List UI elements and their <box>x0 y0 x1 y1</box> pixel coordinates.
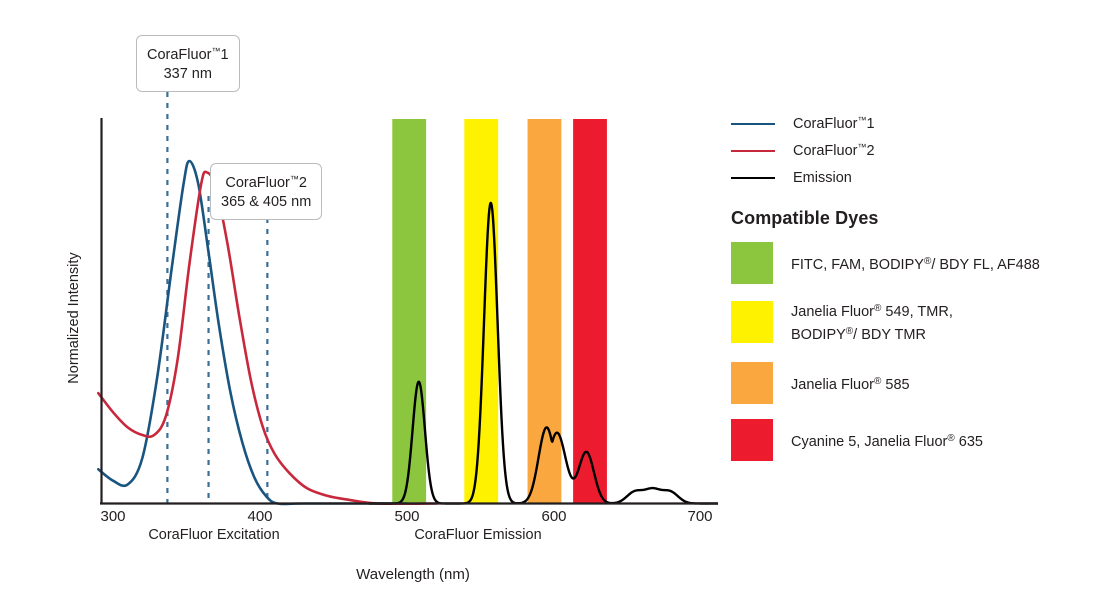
legend-line-swatch <box>731 150 775 152</box>
legend-row-2[interactable]: Emission <box>731 164 1101 191</box>
x-tick-label-600: 600 <box>541 508 566 525</box>
registered-symbol: ® <box>947 433 954 444</box>
green-band <box>392 119 426 504</box>
dye-label-line1: Janelia Fluor® 585 <box>791 372 910 395</box>
x-tick-label-500: 500 <box>394 508 419 525</box>
region-label-emission: CoraFluor Emission <box>414 527 541 543</box>
dye-color-swatch <box>731 242 773 284</box>
x-tick-label-400: 400 <box>247 508 272 525</box>
compatible-dyes-list: FITC, FAM, BODIPY®/ BDY FL, AF488Janelia… <box>731 242 1101 472</box>
emission-bands-group <box>392 119 607 504</box>
dye-row-0[interactable]: FITC, FAM, BODIPY®/ BDY FL, AF488 <box>731 242 1040 284</box>
region-label-excitation: CoraFluor Excitation <box>148 527 279 543</box>
dye-label: FITC, FAM, BODIPY®/ BDY FL, AF488 <box>791 252 1040 275</box>
dye-label-line1: Janelia Fluor® 549, TMR, <box>791 299 953 322</box>
dye-row-3[interactable]: Cyanine 5, Janelia Fluor® 635 <box>731 419 983 461</box>
x-axis-title: Wavelength (nm) <box>356 566 470 583</box>
registered-symbol: ® <box>924 256 931 267</box>
orange-band <box>528 119 562 504</box>
legend-series-list: CoraFluor™1CoraFluor™2Emission <box>731 110 1101 191</box>
dye-label: Janelia Fluor® 549, TMR,BODIPY®/ BDY TMR <box>791 299 953 345</box>
x-tick-label-700: 700 <box>687 508 712 525</box>
callout-2-line2: 365 & 405 nm <box>221 193 311 212</box>
yellow-band <box>464 119 498 504</box>
callout-2-line1: CoraFluor™2 <box>221 170 311 193</box>
legend-line-label: Emission <box>793 170 852 186</box>
dye-color-swatch <box>731 362 773 404</box>
compatible-dyes-title: Compatible Dyes <box>731 208 1101 229</box>
excitation-marker-lines-group <box>167 92 267 504</box>
spectra-figure: CoraFluor™1 337 nm CoraFluor™2 365 & 405… <box>0 0 1110 612</box>
legend-line-swatch <box>731 177 775 179</box>
legend-row-1[interactable]: CoraFluor™2 <box>731 137 1101 164</box>
registered-symbol: ® <box>874 376 881 387</box>
dye-color-swatch <box>731 419 773 461</box>
legend-line-swatch <box>731 123 775 125</box>
dye-label: Cyanine 5, Janelia Fluor® 635 <box>791 429 983 452</box>
dye-label-line2: BODIPY®/ BDY TMR <box>791 322 953 345</box>
x-tick-label-300: 300 <box>100 508 125 525</box>
red-band <box>573 119 607 504</box>
dye-label-line1: Cyanine 5, Janelia Fluor® 635 <box>791 429 983 452</box>
legend-panel: CoraFluor™1CoraFluor™2Emission Compatibl… <box>731 110 1101 472</box>
dye-row-2[interactable]: Janelia Fluor® 585 <box>731 362 910 404</box>
registered-symbol: ® <box>846 326 853 337</box>
y-axis-title: Normalized Intensity <box>66 238 82 398</box>
dye-row-1[interactable]: Janelia Fluor® 549, TMR,BODIPY®/ BDY TMR <box>731 299 953 345</box>
callout-1-line1: CoraFluor™1 <box>147 42 229 65</box>
trademark-symbol: ™ <box>290 174 299 184</box>
registered-symbol: ® <box>874 303 881 314</box>
dye-label-line1: FITC, FAM, BODIPY®/ BDY FL, AF488 <box>791 252 1040 275</box>
callout-1-line2: 337 nm <box>147 65 229 84</box>
legend-line-label: CoraFluor™2 <box>793 142 875 159</box>
callout-corafluor1: CoraFluor™1 337 nm <box>136 35 240 92</box>
legend-row-0[interactable]: CoraFluor™1 <box>731 110 1101 137</box>
dye-color-swatch <box>731 301 773 343</box>
callout-corafluor2: CoraFluor™2 365 & 405 nm <box>210 163 322 220</box>
legend-line-label: CoraFluor™1 <box>793 115 875 132</box>
dye-label: Janelia Fluor® 585 <box>791 372 910 395</box>
